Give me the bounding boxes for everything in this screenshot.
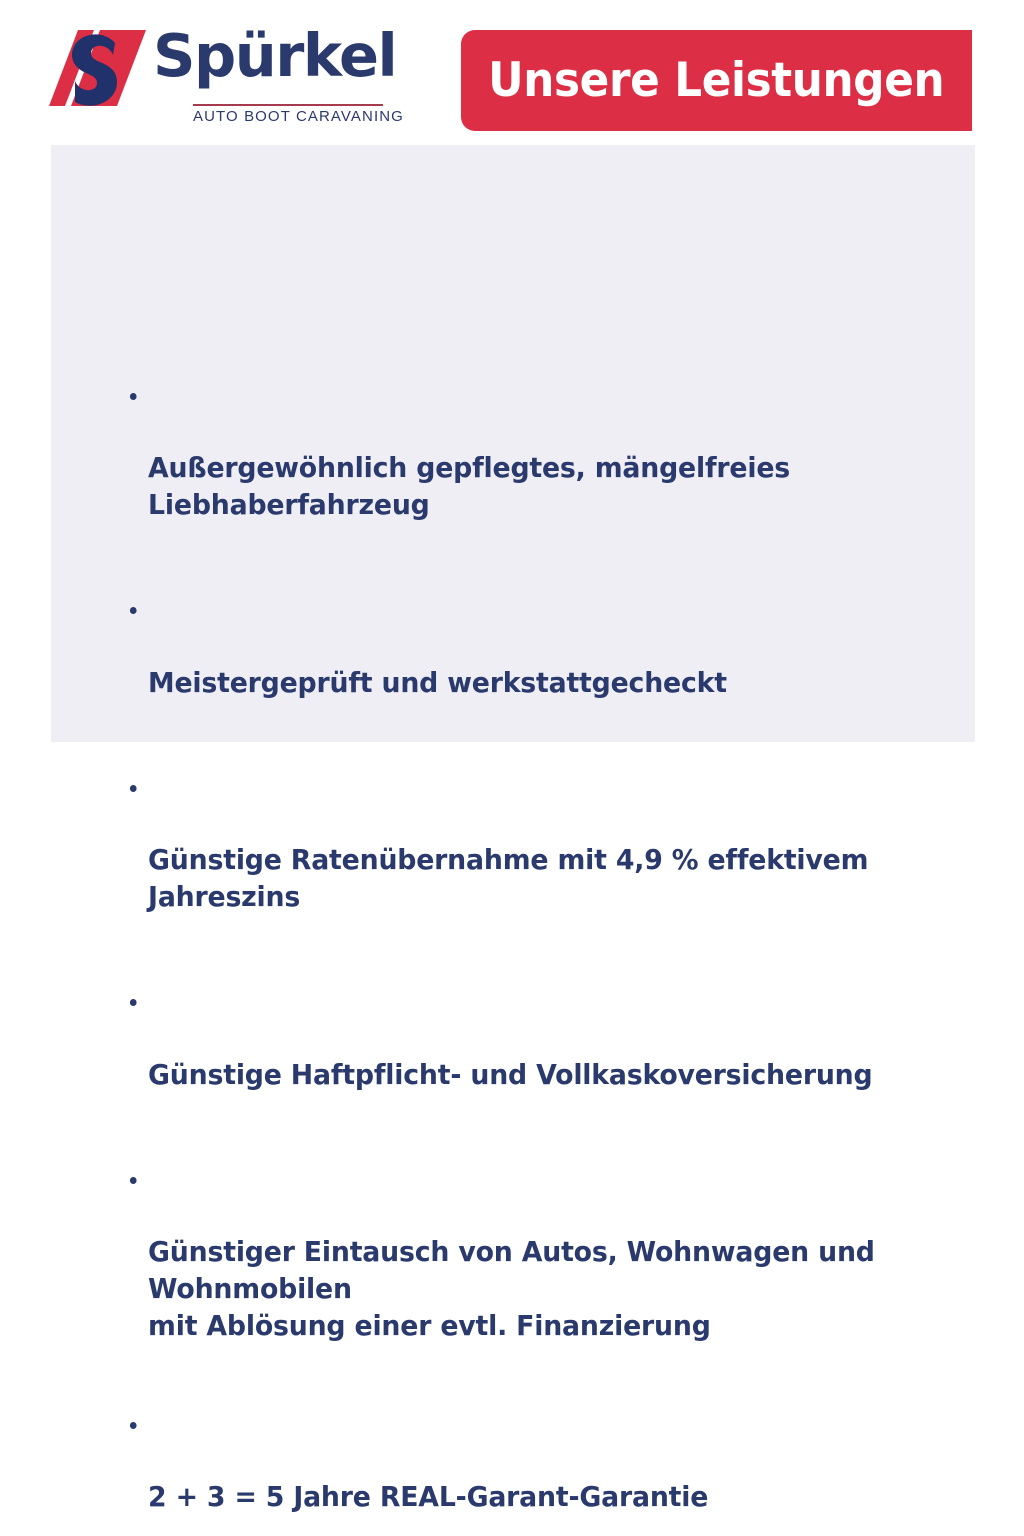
list-item: Günstige Haftpflicht- und Vollkaskoversi… [128, 983, 988, 1130]
bullet-icon [130, 785, 137, 792]
list-item-label: Günstige Haftpflicht- und Vollkaskoversi… [148, 1057, 987, 1094]
company-logo: Spürkel AUTO BOOT CARAVANING [45, 28, 385, 133]
logo-divider-rule [193, 104, 383, 106]
list-item: Günstiger Eintausch von Autos, Wohnwagen… [128, 1161, 988, 1381]
list-item: Außergewöhnlich gepflegtes, mängelfreies… [128, 377, 988, 560]
spuerkel-s-logo-icon [45, 30, 150, 106]
bullet-icon [130, 1177, 137, 1184]
list-item-label: 2 + 3 = 5 Jahre REAL-Garant-Garantie [148, 1479, 987, 1516]
list-item-label: Außergewöhnlich gepflegtes, mängelfreies… [148, 450, 987, 523]
content-panel: Außergewöhnlich gepflegtes, mängelfreies… [51, 145, 975, 742]
banner-title: Unsere Leistungen [488, 53, 944, 108]
list-item: Meistergeprüft und werkstattgecheckt [128, 591, 988, 738]
section-title-banner: Unsere Leistungen [461, 30, 972, 131]
header: Spürkel AUTO BOOT CARAVANING Unsere Leis… [0, 0, 1024, 145]
bullet-icon [130, 1422, 137, 1429]
list-item-label: Günstige Ratenübernahme mit 4,9 % effekt… [148, 842, 987, 915]
benefits-list: Außergewöhnlich gepflegtes, mängelfreies… [128, 377, 1024, 1536]
logo-tagline: AUTO BOOT CARAVANING [193, 108, 383, 125]
logo-wordmark: Spürkel [153, 26, 396, 85]
bullet-icon [130, 607, 137, 614]
bullet-icon [130, 999, 137, 1006]
list-item: Günstige Ratenübernahme mit 4,9 % effekt… [128, 769, 988, 952]
list-item-label: Meistergeprüft und werkstattgecheckt [148, 665, 987, 702]
bullet-icon [130, 393, 137, 400]
list-item: 2 + 3 = 5 Jahre REAL-Garant-Garantie [128, 1406, 988, 1536]
list-item-label: Günstiger Eintausch von Autos, Wohnwagen… [148, 1234, 987, 1344]
